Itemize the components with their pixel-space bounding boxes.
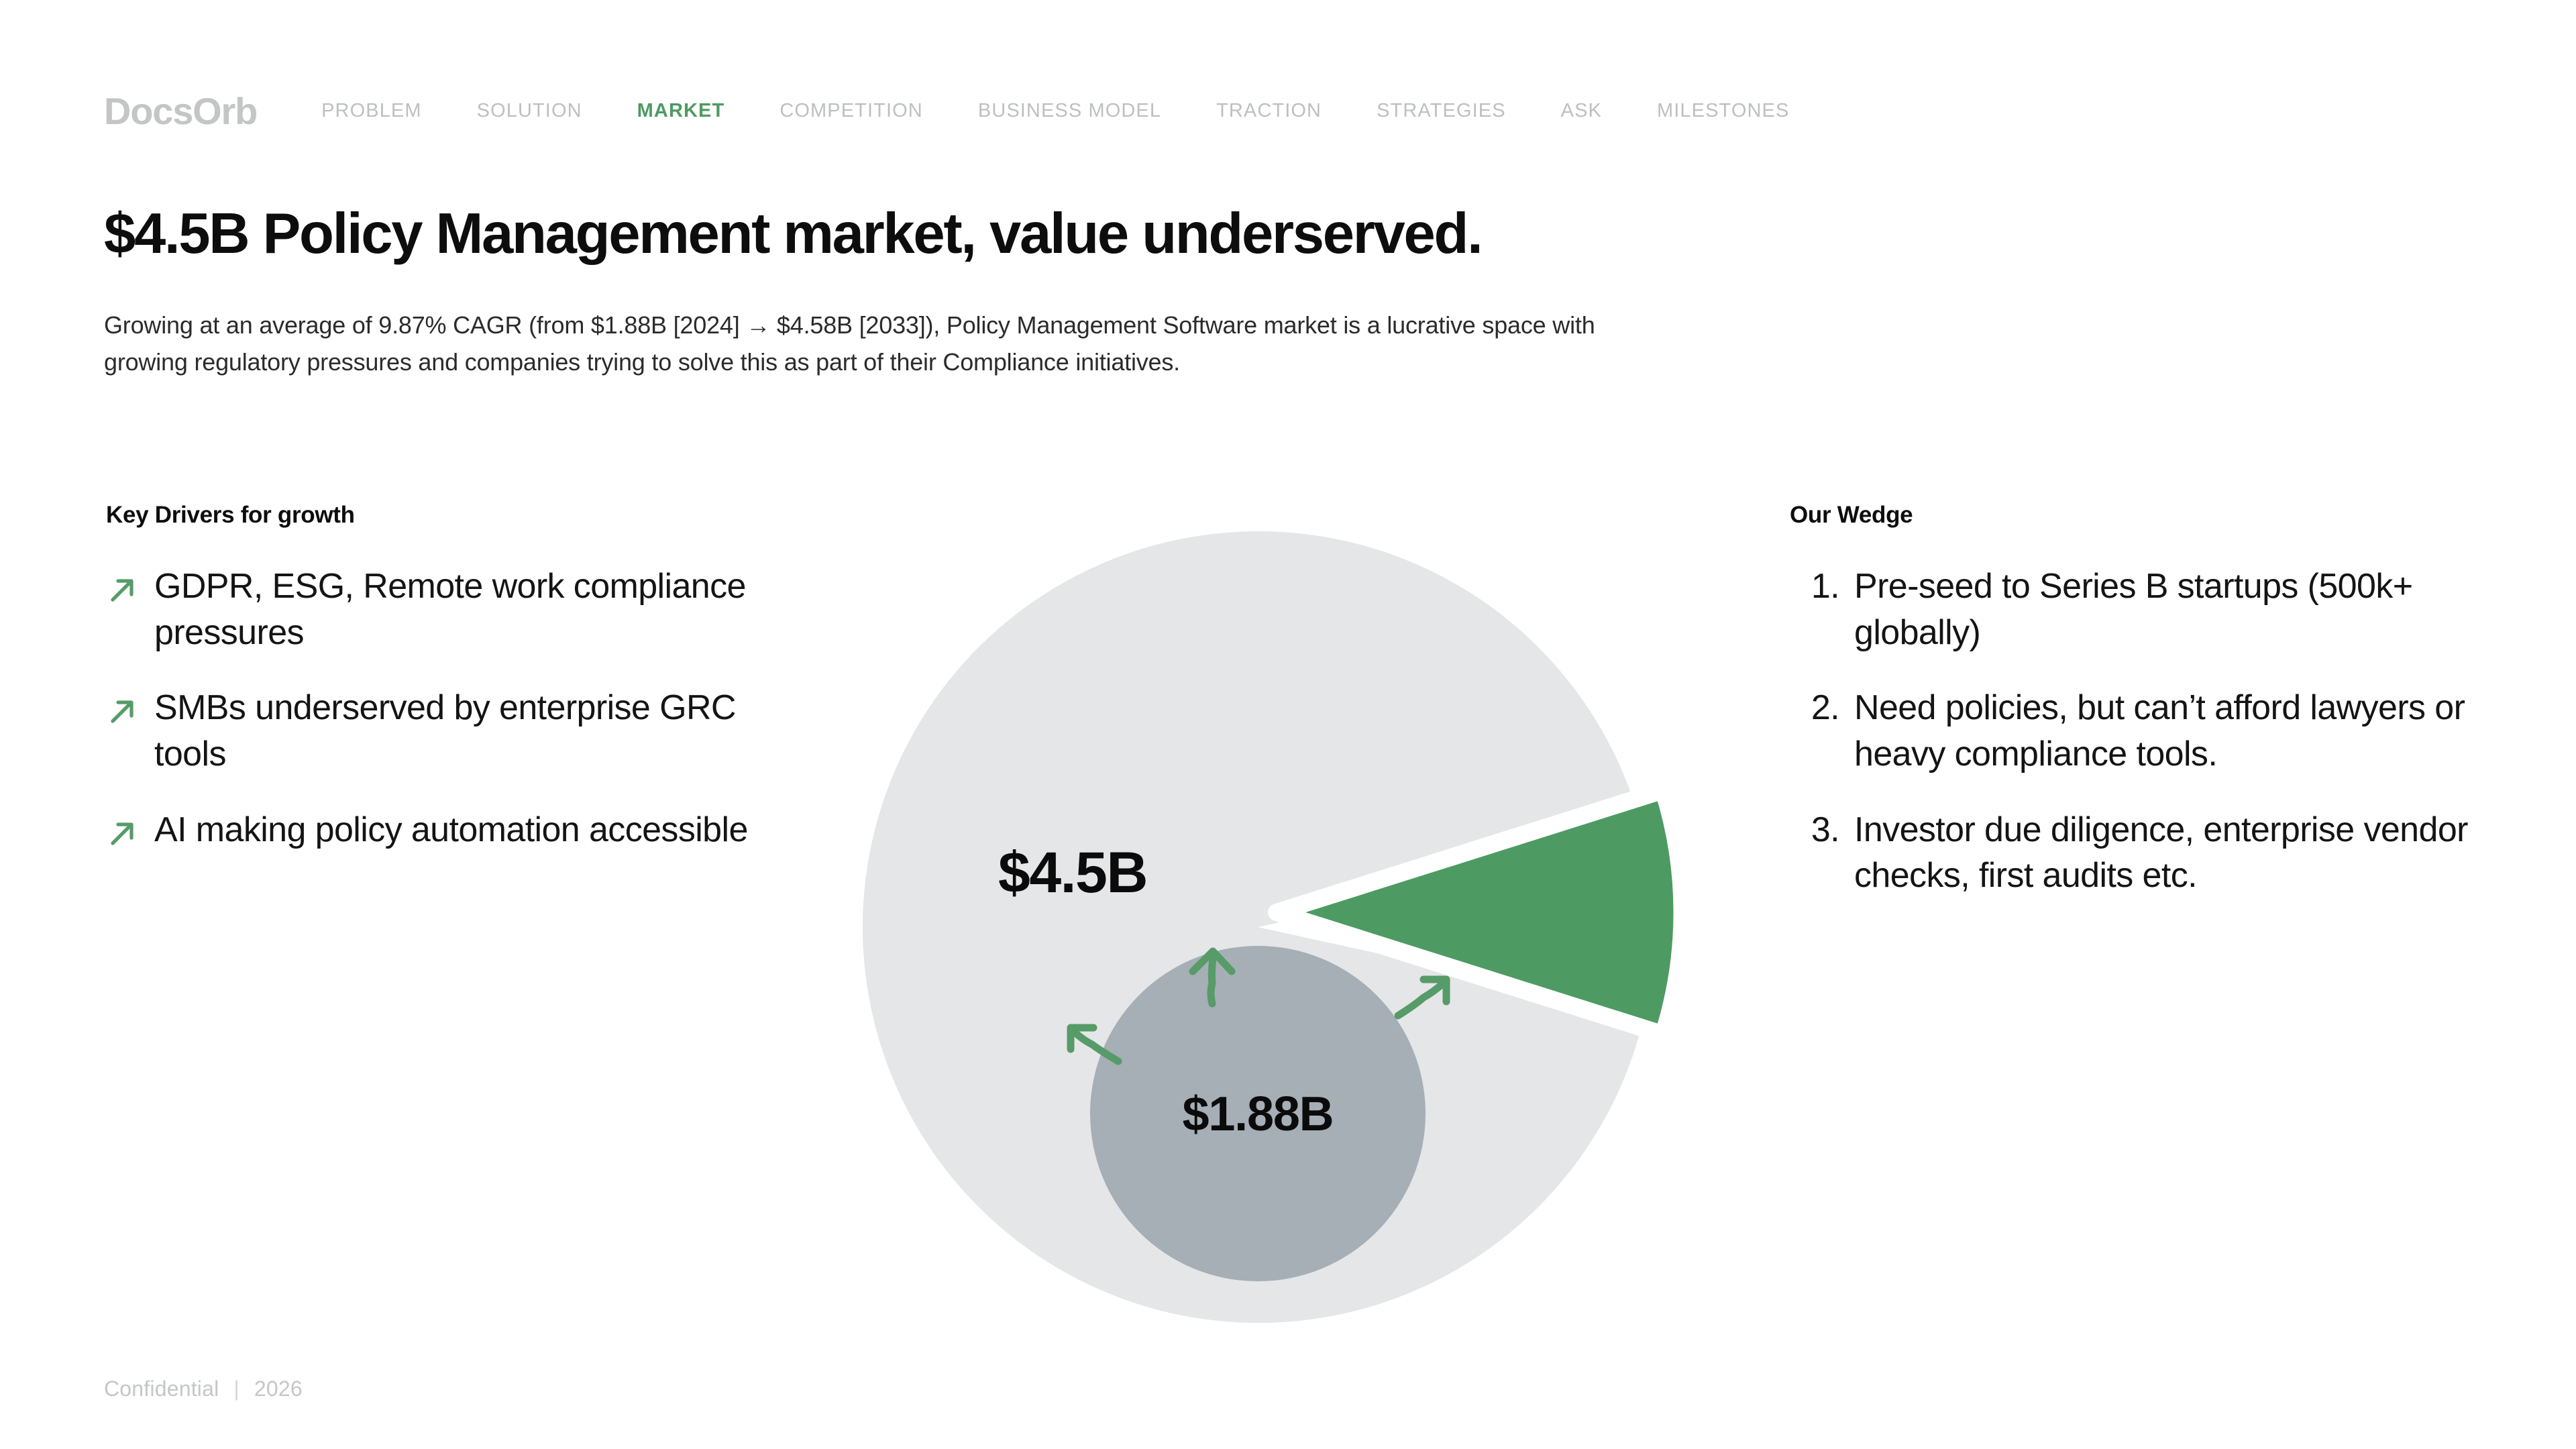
key-driver-item: SMBs underserved by enterprise GRC tools <box>106 685 810 777</box>
arrow-up-right-icon <box>106 818 148 853</box>
our-wedge-heading: Our Wedge <box>1790 502 2501 529</box>
wedge-item-number: 3. <box>1790 807 1854 853</box>
nav-item-traction[interactable]: TRACTION <box>1216 96 1322 126</box>
page-title: $4.5B Policy Management market, value un… <box>104 201 1481 267</box>
nav-item-problem[interactable]: PROBLEM <box>321 96 422 126</box>
nav-item-ask[interactable]: ASK <box>1561 96 1602 126</box>
footer-separator: | <box>233 1377 239 1401</box>
key-driver-text: GDPR, ESG, Remote work compliance pressu… <box>154 563 810 655</box>
slide-footer: Confidential | 2026 <box>104 1377 303 1401</box>
wedge-list-item: 3. Investor due diligence, enterprise ve… <box>1790 807 2501 899</box>
footer-year: 2026 <box>254 1377 303 1401</box>
footer-confidential: Confidential <box>104 1377 219 1401</box>
wedge-list-item: 2. Need policies, but can’t afford lawye… <box>1790 685 2501 777</box>
wedge-item-number: 2. <box>1790 685 1854 731</box>
pie-label-current-market: $1.88B <box>1183 1087 1334 1141</box>
nav-item-solution[interactable]: SOLUTION <box>477 96 582 126</box>
nav-item-list: PROBLEM SOLUTION MARKET COMPETITION BUSI… <box>321 96 1789 126</box>
key-driver-item: AI making policy automation accessible <box>106 807 810 853</box>
market-pie-chart: $4.5B $1.88B <box>839 510 1684 1342</box>
wedge-item-text: Pre-seed to Series B startups (500k+ glo… <box>1854 563 2501 655</box>
key-driver-text: SMBs underserved by enterprise GRC tools <box>154 685 810 777</box>
wedge-item-number: 1. <box>1790 563 1854 610</box>
key-driver-text: AI making policy automation accessible <box>154 807 748 853</box>
nav-item-business-model[interactable]: BUSINESS MODEL <box>978 96 1161 126</box>
wedge-item-text: Need policies, but can’t afford lawyers … <box>1854 685 2501 777</box>
top-navigation: DocsOrb PROBLEM SOLUTION MARKET COMPETIT… <box>104 87 1789 134</box>
wedge-item-text: Investor due diligence, enterprise vendo… <box>1854 807 2501 899</box>
key-driver-item: GDPR, ESG, Remote work compliance pressu… <box>106 563 810 655</box>
arrow-up-right-icon <box>106 574 148 610</box>
our-wedge-section: Our Wedge 1. Pre-seed to Series B startu… <box>1790 502 2501 928</box>
pie-label-tam: $4.5B <box>998 841 1147 905</box>
brand-logo[interactable]: DocsOrb <box>104 89 257 133</box>
wedge-list-item: 1. Pre-seed to Series B startups (500k+ … <box>1790 563 2501 655</box>
nav-item-market[interactable]: MARKET <box>637 96 725 126</box>
key-drivers-heading: Key Drivers for growth <box>106 502 810 529</box>
page-subtitle: Growing at an average of 9.87% CAGR (fro… <box>104 307 1667 380</box>
nav-item-milestones[interactable]: MILESTONES <box>1657 96 1789 126</box>
arrow-up-right-icon <box>106 696 148 731</box>
nav-item-competition[interactable]: COMPETITION <box>780 96 923 126</box>
key-drivers-section: Key Drivers for growth GDPR, ESG, Remote… <box>106 502 810 883</box>
nav-item-strategies[interactable]: STRATEGIES <box>1377 96 1506 126</box>
